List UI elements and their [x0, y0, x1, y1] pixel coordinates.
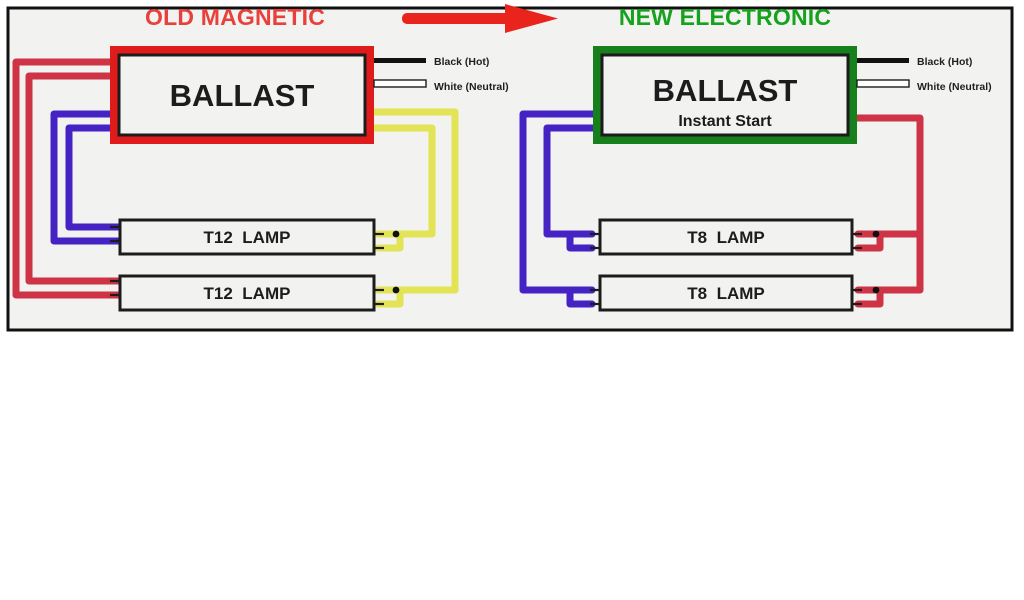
heading-new-electronic: NEW ELECTRONIC	[619, 4, 831, 30]
right-ballast-subtitle: Instant Start	[678, 113, 772, 130]
svg-text:T12 LAMP: T12 LAMP	[204, 228, 291, 247]
left-white-lead-label: White (Neutral)	[434, 81, 509, 93]
right-black-lead	[857, 58, 909, 63]
left-black-lead-label: Black (Hot)	[434, 56, 489, 68]
right-lamp-2-word: LAMP	[717, 284, 765, 303]
right-lamp-1: T8 LAMP	[600, 220, 852, 254]
ballast-wiring-diagram: OLD MAGNETIC NEW ELECTRONIC	[0, 0, 1024, 600]
left-lamp-2: T12 LAMP	[120, 276, 374, 310]
svg-text:T8 LAMP: T8 LAMP	[687, 228, 764, 247]
left-black-lead	[374, 58, 426, 63]
right-black-lead-label: Black (Hot)	[917, 56, 972, 68]
left-lamp-1-type: T12	[204, 228, 233, 247]
right-ballast-title: BALLAST	[653, 73, 798, 108]
right-lamp-1-word: LAMP	[717, 228, 765, 247]
svg-text:T8 LAMP: T8 LAMP	[687, 284, 764, 303]
right-white-lead	[857, 80, 909, 87]
svg-text:T12 LAMP: T12 LAMP	[204, 284, 291, 303]
junction-dot-lamp2-right	[873, 287, 880, 294]
right-lamp-2-type: T8	[687, 284, 707, 303]
left-lamp-2-word: LAMP	[242, 284, 290, 303]
left-lamp-2-type: T12	[204, 284, 233, 303]
junction-dot-lamp1-right	[873, 231, 880, 238]
junction-dot-lamp2-left	[393, 287, 400, 294]
right-white-lead-label: White (Neutral)	[917, 81, 992, 93]
junction-dot-lamp1-left	[393, 231, 400, 238]
left-ballast-title: BALLAST	[170, 78, 315, 113]
left-lamp-1-word: LAMP	[242, 228, 290, 247]
right-lamp-2: T8 LAMP	[600, 276, 852, 310]
diagram-canvas: OLD MAGNETIC NEW ELECTRONIC	[0, 0, 1024, 600]
heading-old-magnetic: OLD MAGNETIC	[145, 4, 325, 30]
left-white-lead	[374, 80, 426, 87]
left-lamp-1: T12 LAMP	[120, 220, 374, 254]
right-lamp-1-type: T8	[687, 228, 707, 247]
